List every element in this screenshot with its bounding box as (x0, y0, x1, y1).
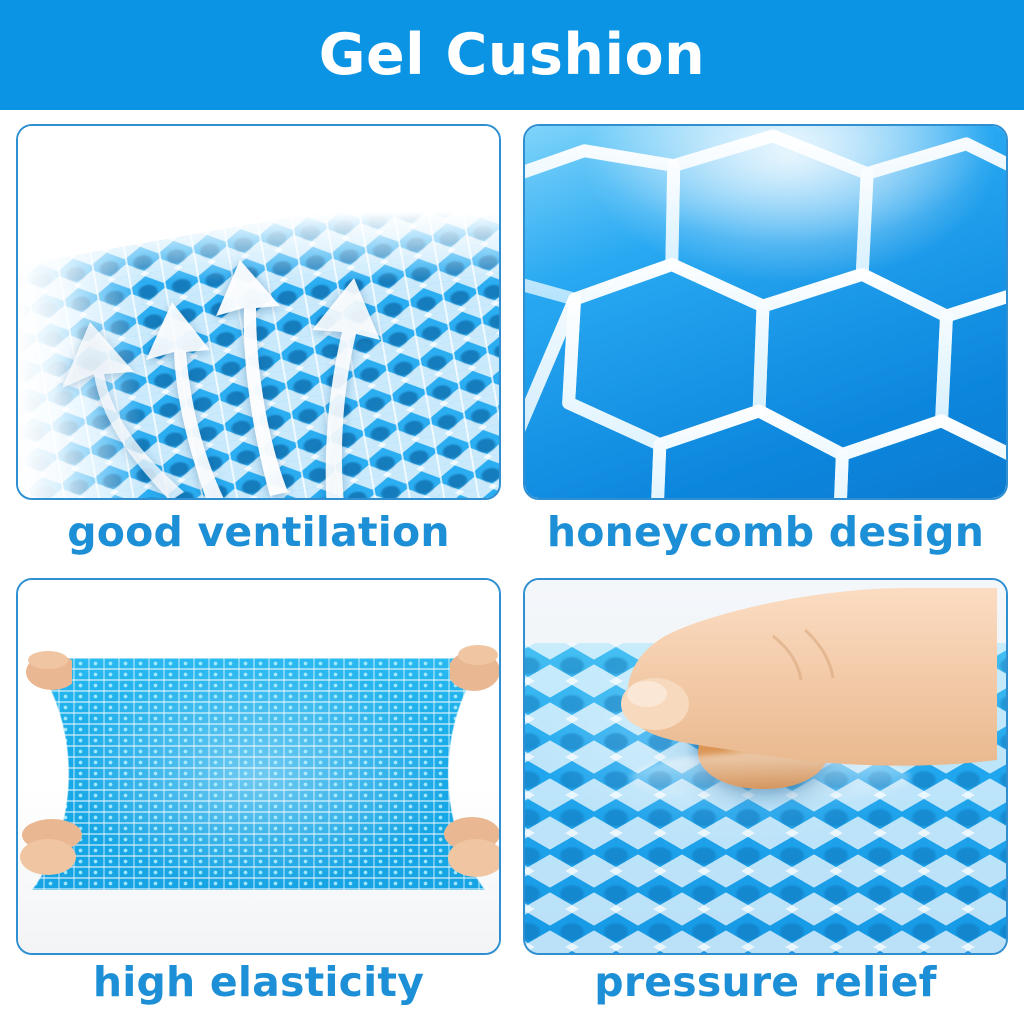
feature-caption-high-elasticity: high elasticity (16, 955, 501, 1008)
header-banner: Gel Cushion (0, 0, 1024, 110)
feature-grid: good ventilation (0, 110, 1024, 1014)
hand-icon (450, 635, 501, 713)
page-title: Gel Cushion (319, 27, 706, 84)
product-image-pressure-relief (523, 578, 1008, 955)
feature-caption-pressure-relief: pressure relief (523, 955, 1008, 1008)
hand-icon (18, 805, 84, 891)
product-image-high-elasticity (16, 578, 501, 955)
hand-icon (577, 578, 997, 804)
honeycomb-airflow-illustration (18, 126, 499, 498)
product-image-good-ventilation (16, 124, 501, 500)
stretched-gel-illustration (18, 580, 499, 953)
gel-sheet-stretched (28, 658, 490, 889)
feature-panel-honeycomb-design: honeycomb design (523, 124, 1008, 564)
feature-caption-honeycomb-design: honeycomb design (523, 500, 1008, 564)
gel-mesh-cells (28, 658, 490, 889)
feature-panel-good-ventilation: good ventilation (16, 124, 501, 564)
egg-pressure-illustration (525, 580, 1006, 953)
hand-icon (18, 638, 72, 708)
feature-panel-pressure-relief: pressure relief (523, 578, 1008, 1008)
airflow-arrow-icon (276, 272, 386, 500)
feature-panel-high-elasticity: high elasticity (16, 578, 501, 1008)
feature-caption-good-ventilation: good ventilation (16, 500, 501, 564)
infographic-page: Gel Cushion (0, 0, 1024, 1014)
macro-hexagon-illustration (525, 126, 1006, 498)
product-image-honeycomb-design (523, 124, 1008, 500)
hand-icon (442, 802, 501, 894)
